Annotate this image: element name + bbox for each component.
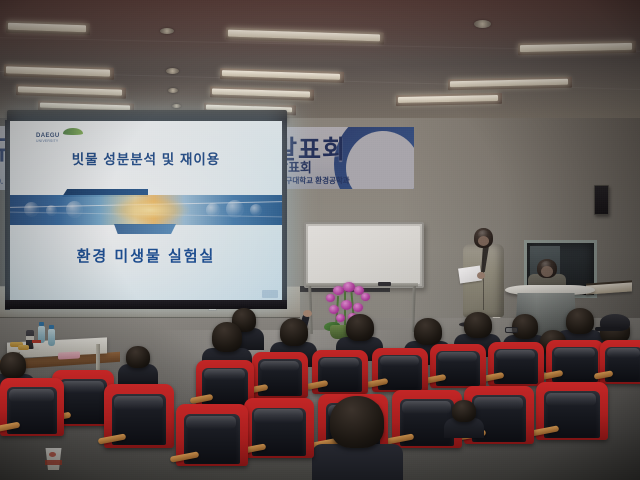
seat-highlight <box>546 393 596 406</box>
band-bubble <box>250 204 262 216</box>
seat-highlight <box>607 348 640 358</box>
seat-highlight <box>380 356 419 366</box>
orchid-bloom <box>353 303 363 312</box>
whiteboard-eraser <box>378 282 391 286</box>
seat-highlight <box>254 409 303 422</box>
seat-highlight <box>186 416 236 430</box>
audience-member-head <box>464 312 492 338</box>
audience-glasses <box>505 327 518 333</box>
slide-logo-subtext: UNIVERSITY <box>36 139 58 143</box>
ceiling-vent <box>160 28 174 34</box>
ceiling-vent <box>166 68 179 74</box>
seat-highlight <box>438 352 477 362</box>
ceiling-vent <box>474 20 491 28</box>
seat-highlight <box>204 369 245 380</box>
presenter-hand <box>477 272 485 279</box>
seat-highlight <box>554 348 595 358</box>
seat-highlight <box>402 401 451 414</box>
presenter-coat-seam <box>483 252 484 310</box>
bottle-cap <box>49 325 54 329</box>
table-leg <box>96 344 100 372</box>
audience-member-head <box>126 346 150 368</box>
audience-member-head <box>330 396 384 448</box>
band-bubble <box>24 202 39 217</box>
whiteboard <box>304 222 424 288</box>
audience-member-head <box>566 308 594 334</box>
snack-item <box>18 345 29 350</box>
slide-university-logo: DAEGU UNIVERSITY <box>36 128 84 143</box>
seat-highlight <box>9 389 54 402</box>
wall-speaker <box>594 185 609 215</box>
ceiling-vent <box>168 88 178 93</box>
water-bottle <box>48 329 55 346</box>
projection-screen: DAEGU UNIVERSITY 빗물 성분분석 및 재이용 환경 미생물 실험… <box>10 121 282 301</box>
whiteboard-surface <box>308 226 420 284</box>
slide-ray-pattern <box>10 231 282 301</box>
orchid-bloom <box>336 314 345 322</box>
audience-member-head <box>0 352 26 378</box>
audience-member-head <box>212 322 242 352</box>
seat-highlight <box>61 381 104 393</box>
audience-member-head <box>346 314 374 341</box>
audience-member-head <box>280 318 308 346</box>
slide-title-text: 빗물 성분분석 및 재이용 <box>10 148 282 168</box>
audience-member-shoulders <box>312 444 403 480</box>
presenter-face <box>478 236 489 246</box>
ceiling-vent <box>172 104 181 108</box>
orchid-bloom <box>341 300 352 310</box>
seat-highlight <box>474 397 523 410</box>
orchid-bloom <box>329 305 339 314</box>
podium-person-face <box>541 266 553 277</box>
floor-paper-cup-band <box>45 460 62 465</box>
audience-member-head <box>414 318 442 345</box>
leaf-icon <box>63 128 83 135</box>
slide-lens-flare <box>110 197 190 223</box>
audience-member-head <box>452 400 476 422</box>
seminar-room-photograph: 구대 대구 09. 11. 20(금 발표회 발표회 : 대구대학교 환경공학과… <box>0 0 640 480</box>
seat-highlight <box>496 350 535 360</box>
seat-highlight <box>260 361 299 371</box>
seat-highlight <box>320 358 359 368</box>
paper-cup-band <box>32 340 41 343</box>
orchid-bloom <box>361 293 370 301</box>
snack-bag <box>58 351 80 359</box>
slide-corner-badge <box>262 290 278 298</box>
cap-brim <box>595 327 621 331</box>
audience-raised-hand <box>303 310 312 317</box>
ceiling <box>0 0 640 122</box>
bottle-cap <box>39 322 44 326</box>
orchid-bloom <box>326 294 335 302</box>
seat-highlight <box>114 396 163 410</box>
band-bubble <box>66 201 83 218</box>
floor-paper-cup-logo <box>49 452 56 457</box>
